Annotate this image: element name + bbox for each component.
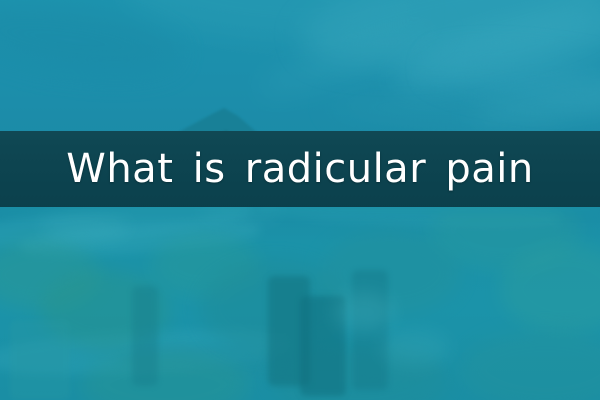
title-banner-bar: What is radicular pain xyxy=(0,131,600,207)
page-title: What is radicular pain xyxy=(66,149,533,189)
highlight-patch xyxy=(40,214,130,240)
banner-image: What is radicular pain xyxy=(0,0,600,400)
highlight-patch xyxy=(380,330,450,366)
foliage-clump xyxy=(460,330,600,400)
highlight-patch xyxy=(334,292,394,332)
structure-shape xyxy=(10,320,70,400)
structure-shape xyxy=(132,286,158,386)
valley-region xyxy=(0,200,600,400)
